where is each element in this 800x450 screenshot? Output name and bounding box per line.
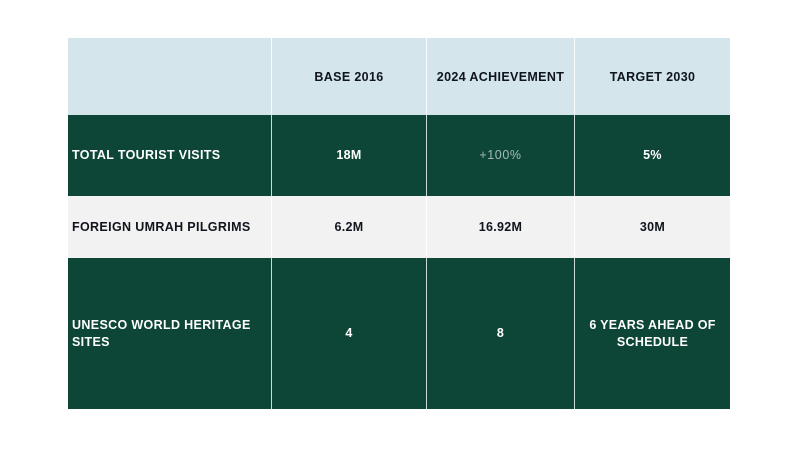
table-header-row: BASE 2016 2024 ACHIEVEMENT TARGET 2030 [68,38,730,115]
cell-total-tourist-visits-achievement: +100% [426,115,574,196]
cell-unesco-world-heritage-sites-target: 6 YEARS AHEAD OF SCHEDULE [574,258,730,409]
header-cell-base-2016: BASE 2016 [271,38,426,115]
table-row: TOTAL TOURIST VISITS 18M +100% 5% [68,115,730,196]
header-cell-2024-achievement: 2024 ACHIEVEMENT [426,38,574,115]
comparison-table: BASE 2016 2024 ACHIEVEMENT TARGET 2030 T… [68,38,730,409]
header-cell-target-2030: TARGET 2030 [574,38,730,115]
cell-foreign-umrah-pilgrims-base: 6.2M [271,196,426,258]
table-row: UNESCO WORLD HERITAGE SITES 4 8 6 YEARS … [68,258,730,409]
cell-unesco-world-heritage-sites-base: 4 [271,258,426,409]
cell-total-tourist-visits-base: 18M [271,115,426,196]
row-label-total-tourist-visits: TOTAL TOURIST VISITS [68,115,271,196]
table-row: FOREIGN UMRAH PILGRIMS 6.2M 16.92M 30M [68,196,730,258]
cell-foreign-umrah-pilgrims-achievement: 16.92M [426,196,574,258]
row-label-unesco-world-heritage-sites: UNESCO WORLD HERITAGE SITES [68,258,271,409]
cell-unesco-world-heritage-sites-achievement: 8 [426,258,574,409]
row-label-foreign-umrah-pilgrims: FOREIGN UMRAH PILGRIMS [68,196,271,258]
header-cell-metric [68,38,271,115]
cell-total-tourist-visits-target: 5% [574,115,730,196]
cell-foreign-umrah-pilgrims-target: 30M [574,196,730,258]
